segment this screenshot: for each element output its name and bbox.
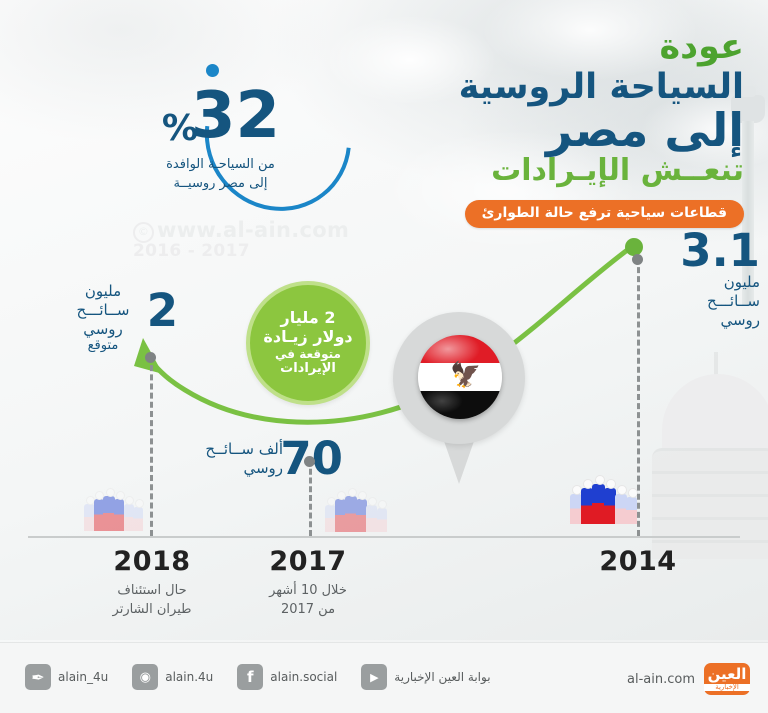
egypt-flag-icon: 🦅 <box>418 335 502 419</box>
callout-2018-label-3: روسي <box>70 320 136 339</box>
revenue-badge-line-4: الإيرادات <box>263 361 352 376</box>
year-2014-value: 2014 <box>574 546 702 577</box>
al-ain-logo[interactable]: العين الإخبارية <box>704 663 750 695</box>
tick-2018 <box>150 356 153 536</box>
year-2017: 2017 خلال 10 أشهر من 2017 <box>244 546 372 620</box>
person-head <box>106 488 115 497</box>
person-head <box>378 500 387 509</box>
tick-2014 <box>637 258 640 536</box>
social-link-youtube[interactable]: ▶بوابة العين الإخبارية <box>361 664 490 690</box>
person-silhouette <box>366 505 377 533</box>
callout-2018-label-2: ســائـــح <box>70 301 136 320</box>
year-2017-caption: خلال 10 أشهر من 2017 <box>244 582 372 620</box>
person-head <box>606 479 616 489</box>
callout-2014-label-2: ســائـــح <box>636 292 760 311</box>
youtube-icon[interactable]: ▶ <box>361 664 387 690</box>
person-head <box>116 491 125 500</box>
person-silhouette <box>133 507 143 531</box>
person-head <box>135 499 144 508</box>
callout-2014-label: مليون ســائـــح روسي <box>636 273 760 331</box>
social-handle: بوابة العين الإخبارية <box>394 670 490 684</box>
year-2018: 2018 حال استئناف طيران الشارتر <box>88 546 216 620</box>
person-head <box>368 497 377 506</box>
twitter-icon[interactable]: ✒ <box>25 664 51 690</box>
revenue-badge-line-3: متوقعة في <box>263 347 352 361</box>
instagram-icon[interactable]: ◉ <box>132 664 158 690</box>
footer-url[interactable]: al-ain.com <box>627 672 695 687</box>
callout-2017-label-2: روسي <box>197 459 283 478</box>
logo-main-text: العين <box>708 667 747 682</box>
callout-2017-label: ألف ســائــح روسي <box>197 440 283 478</box>
person-head <box>628 488 638 498</box>
year-2017-value: 2017 <box>244 546 372 577</box>
social-link-instagram[interactable]: ◉alain.4u <box>132 664 213 690</box>
footer-brand: al-ain.com العين الإخبارية <box>627 663 750 695</box>
crowd-icon-2017 <box>325 492 386 532</box>
social-handle: alain.social <box>270 670 337 684</box>
year-2018-caption-1: حال استئناف <box>88 582 216 601</box>
infographic-canvas: ©www.al-ain.com 2016 - 2017 عودة السياحة… <box>0 0 768 713</box>
year-2017-caption-1: خلال 10 أشهر <box>244 582 372 601</box>
map-pin-egypt: 🦅 <box>393 312 525 484</box>
revenue-badge-line-1: 2 مليار <box>263 309 352 328</box>
callout-2014-value: 3.1 <box>636 228 760 273</box>
social-handle: alain_4u <box>58 670 108 684</box>
callout-2014: 3.1 مليون ســائـــح روسي <box>636 228 760 331</box>
year-2018-value: 2018 <box>88 546 216 577</box>
social-link-twitter[interactable]: ✒alain_4u <box>25 664 108 690</box>
tick-dot-2014 <box>632 254 643 265</box>
facebook-icon[interactable]: f <box>237 664 263 690</box>
year-2017-caption-2: من 2017 <box>244 601 372 620</box>
person-head <box>595 475 605 485</box>
year-2018-caption: حال استئناف طيران الشارتر <box>88 582 216 620</box>
person-silhouette <box>377 508 387 533</box>
social-handle: alain.4u <box>165 670 213 684</box>
social-link-facebook[interactable]: falain.social <box>237 664 337 690</box>
crowd-icon-2018 <box>84 492 142 531</box>
tick-dot-2018 <box>145 352 156 363</box>
person-silhouette <box>114 499 125 531</box>
callout-2018: 2 مليون ســائـــح روسي متوقع <box>62 282 178 353</box>
person-head <box>617 485 627 495</box>
person-silhouette <box>84 504 95 530</box>
callout-2014-label-3: روسي <box>636 311 760 330</box>
logo-sub-text: الإخبارية <box>704 684 750 691</box>
year-2018-caption-2: طيران الشارتر <box>88 601 216 620</box>
revenue-badge: 2 مليار دولار زيـادة متوقعة في الإيرادات <box>246 281 370 405</box>
footer: ✒alain_4u◉alain.4ufalain.social▶بوابة ال… <box>0 642 768 713</box>
axis-baseline <box>28 536 740 538</box>
tick-dot-2017 <box>304 456 315 467</box>
crowd-icon-2014 <box>570 480 636 524</box>
revenue-badge-line-2: دولار زيـادة <box>263 328 352 347</box>
year-2014: 2014 <box>574 546 702 577</box>
callout-2017: 70 ألف ســائــح روسي <box>193 440 343 478</box>
callout-2018-label: مليون ســائـــح روسي <box>70 282 136 338</box>
callout-2018-value: 2 <box>147 288 178 333</box>
trend-line-path <box>150 248 630 422</box>
person-silhouette <box>626 497 637 524</box>
callout-2018-label-1: مليون <box>70 282 136 301</box>
social-links: ✒alain_4u◉alain.4ufalain.social▶بوابة ال… <box>25 664 515 690</box>
callout-2018-extra: متوقع <box>70 338 136 353</box>
person-head <box>348 488 357 497</box>
callout-2017-label-1: ألف ســائــح <box>197 440 283 459</box>
tick-2017 <box>309 460 312 536</box>
